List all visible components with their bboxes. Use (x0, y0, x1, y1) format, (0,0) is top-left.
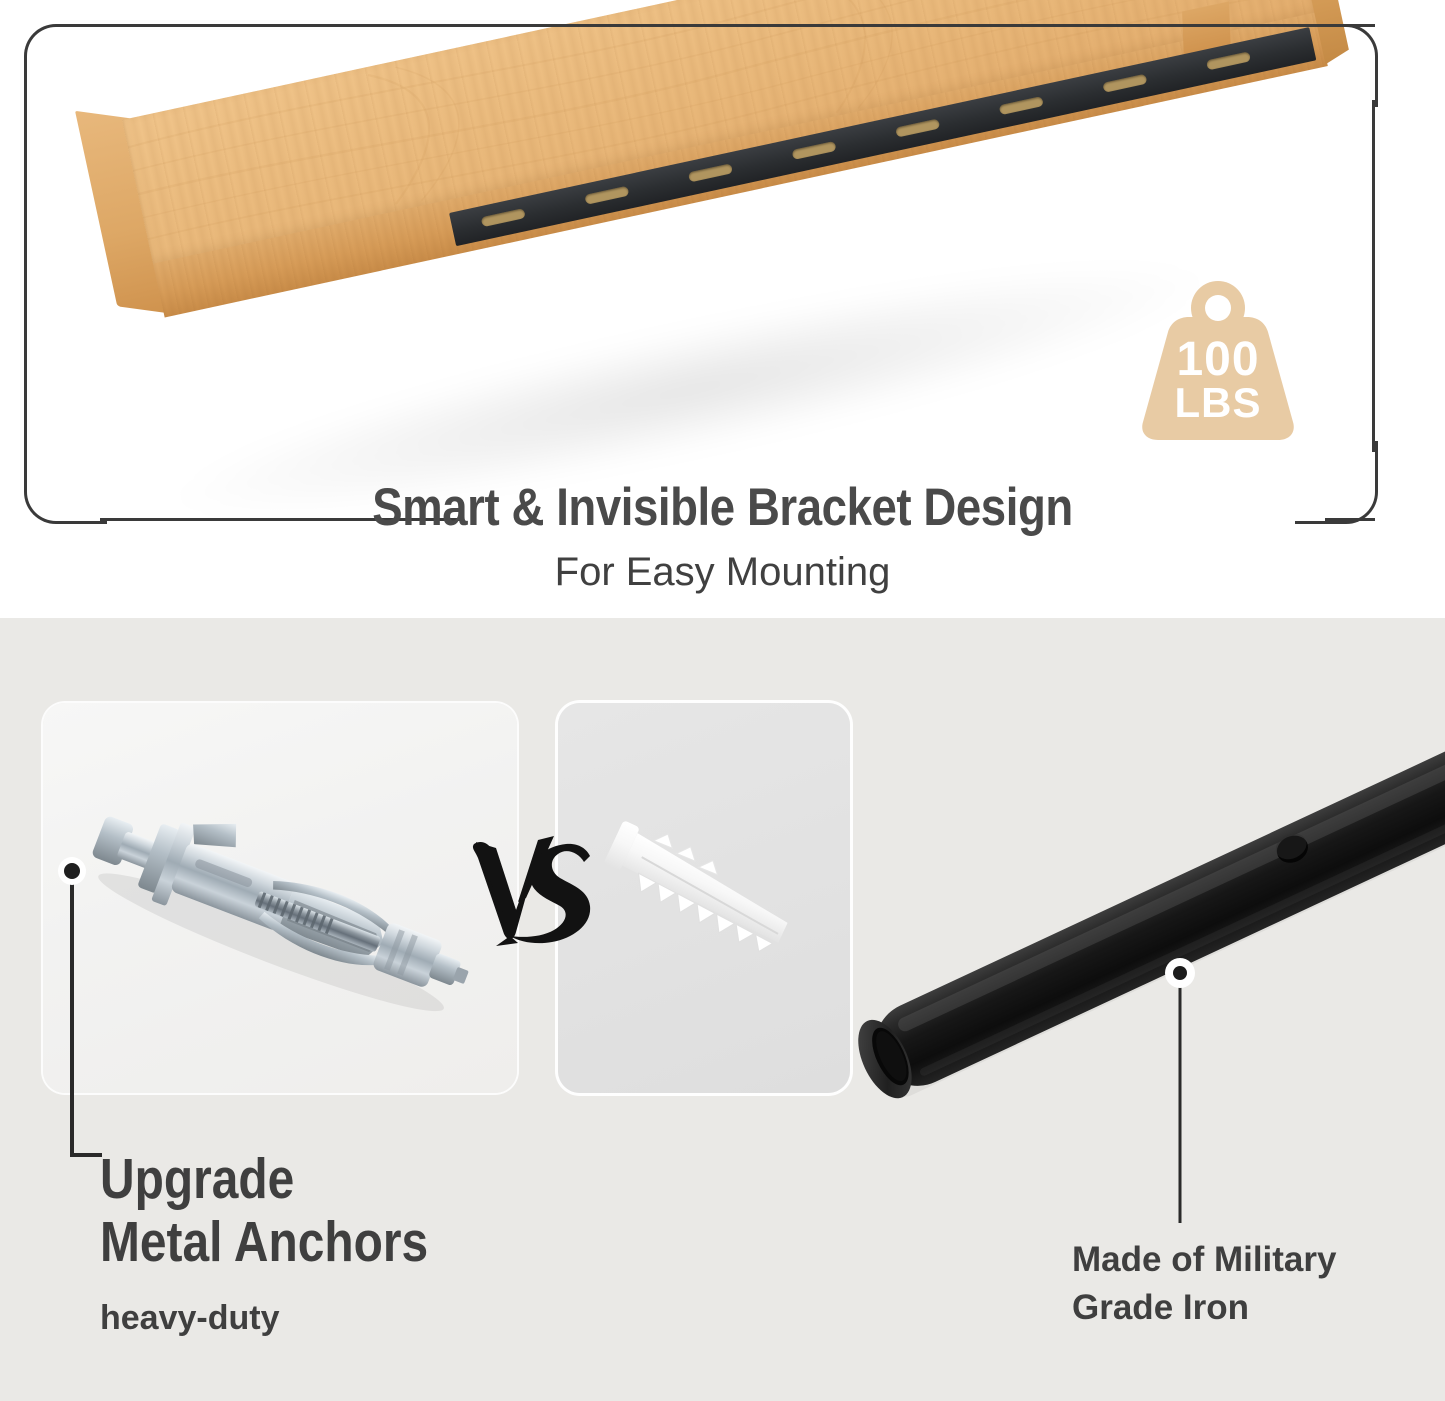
callout-leader-line-left (58, 855, 118, 1185)
plastic-wall-plug-icon (590, 820, 830, 980)
product-infographic: 100 LBS Smart & Invisible Bracket Design… (0, 0, 1445, 1401)
iron-headline: Made of Military Grade Iron (1072, 1236, 1336, 1332)
bracket-slot (1206, 51, 1251, 70)
bracket-slot (792, 141, 837, 160)
headline-subtitle: For Easy Mounting (0, 548, 1445, 596)
bracket-slot (895, 119, 940, 138)
vs-brush-icon (466, 824, 596, 958)
shelf-top-face (122, 0, 1316, 265)
frame-corner-top-left (24, 24, 107, 107)
weight-badge-unit: LBS (1128, 382, 1308, 424)
bracket-slot (999, 96, 1044, 115)
callout-left (58, 855, 118, 1185)
black-iron-rod-icon (845, 700, 1445, 1180)
bracket-slot (1102, 74, 1147, 93)
upgrade-headline: Upgrade Metal Anchors (100, 1148, 428, 1274)
weight-badge-value: 100 (1128, 336, 1308, 384)
plastic-anchor-image (590, 820, 830, 980)
metal-anchor-image (60, 775, 500, 1035)
bracket-slot (584, 186, 629, 205)
metal-expansion-anchor-icon (60, 775, 500, 1035)
callout-right (1150, 955, 1210, 1235)
weight-capacity-badge: 100 LBS (1128, 276, 1308, 448)
wood-grain-icon (122, 0, 1316, 265)
upgrade-subtext: heavy-duty (100, 1297, 280, 1339)
callout-leader-line-right (1150, 955, 1210, 1235)
frame-right-edge (1372, 100, 1375, 452)
top-section: 100 LBS Smart & Invisible Bracket Design… (0, 0, 1445, 618)
headline-title: Smart & Invisible Bracket Design (101, 477, 1344, 539)
frame-corner-top-right (1295, 24, 1378, 107)
frame-corner-bottom-left (24, 441, 107, 524)
vs-mark (466, 824, 596, 958)
callout-dot-left (64, 863, 80, 879)
iron-rod-image (845, 700, 1445, 1180)
callout-dot-right (1173, 966, 1187, 980)
frame-left-edge (24, 100, 27, 452)
bracket-slot (481, 208, 526, 227)
bracket-slot (688, 163, 733, 182)
frame-top-edge (100, 24, 1375, 27)
